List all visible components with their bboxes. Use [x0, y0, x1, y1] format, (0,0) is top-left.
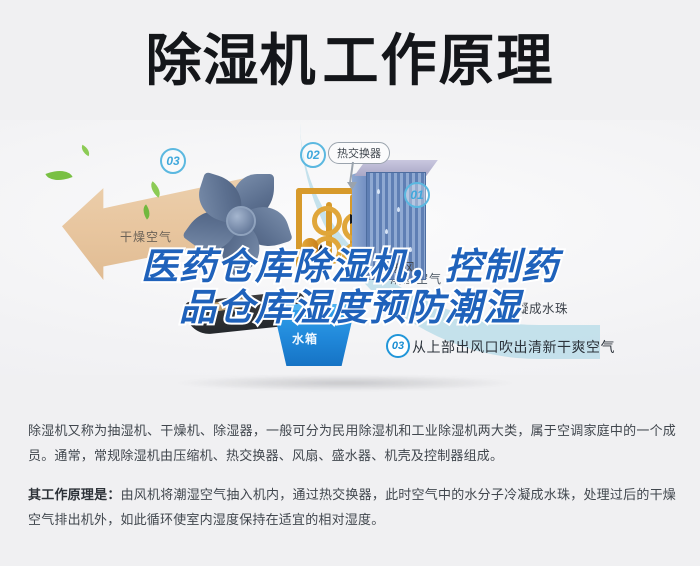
title-light-part: 除湿机: [146, 29, 317, 92]
heat-exchanger-callout: 热交换器: [328, 142, 390, 164]
title-text: 除湿机工作原理: [146, 33, 555, 89]
paragraph-1: 除湿机又称为抽湿机、干燥机、除湿器，一般可分为民用除湿机和工业除湿机两大类，属于…: [28, 418, 676, 468]
fan-illustration: [188, 168, 292, 272]
marker-01: 01: [404, 182, 430, 208]
dry-air-label: 干燥空气: [120, 228, 172, 245]
condensation-drop: [385, 229, 388, 234]
paragraph-2-lead: 其工作原理是：: [28, 487, 121, 502]
page-root: 除湿机工作原理 潮湿空气 干燥空气: [0, 0, 700, 566]
caption-step-condense: 器冷凝成水珠: [490, 298, 568, 317]
condensation-drop: [377, 189, 380, 194]
marker-03-bottom: 03: [386, 334, 410, 358]
condensation-drop: [397, 207, 400, 212]
marker-02: 02: [300, 142, 326, 168]
ground-shadow: [110, 372, 580, 394]
caption-step-mid: 中进风: [377, 257, 416, 276]
fan-hub: [226, 206, 256, 236]
flow-arrow-up-icon: [316, 244, 326, 255]
title-bold-part: 工作原理: [317, 29, 555, 92]
caption-step-three: 从上部出风口吹出清新干爽空气: [412, 337, 615, 357]
marker-03: 03: [160, 148, 186, 174]
coil-ring: [312, 206, 342, 236]
condensation-drop: [409, 247, 412, 252]
water-tank-label: 水箱: [292, 330, 318, 347]
paragraph-2: 其工作原理是：由风机将潮湿空气抽入机内，通过热交换器，此时空气中的水分子冷凝成水…: [28, 482, 676, 532]
paragraph-2-rest: 由风机将潮湿空气抽入机内，通过热交换器，此时空气中的水分子冷凝成水珠，处理过后的…: [28, 487, 676, 527]
body-copy: 除湿机又称为抽湿机、干燥机、除湿器，一般可分为民用除湿机和工业除湿机两大类，属于…: [28, 418, 676, 546]
page-title: 除湿机工作原理: [0, 22, 700, 100]
callout-arrow-icon: [347, 182, 357, 190]
